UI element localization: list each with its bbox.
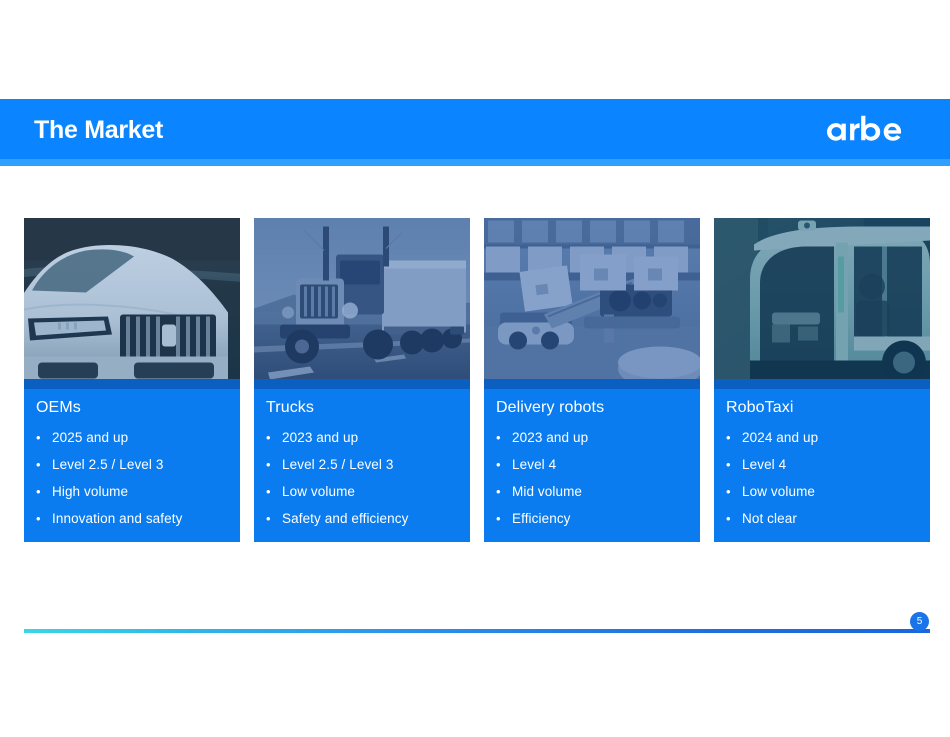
list-item: • 2023 and up <box>496 424 688 451</box>
card-bullet-list: • 2025 and up • Level 2.5 / Level 3 • Hi… <box>36 424 228 532</box>
card-title: RoboTaxi <box>726 397 918 419</box>
bullet-text: Efficiency <box>512 505 688 532</box>
footer-gradient-rule <box>24 629 930 633</box>
list-item: • Safety and efficiency <box>266 505 458 532</box>
autonomous-shuttle-pod-photo <box>714 218 930 379</box>
list-item: • Low volume <box>266 478 458 505</box>
bullet-text: Level 4 <box>742 451 918 478</box>
page-number-badge: 5 <box>910 612 929 631</box>
card-bullet-list: • 2024 and up • Level 4 • Low volume • N… <box>726 424 918 532</box>
bullet-marker-icon: • <box>266 451 282 478</box>
list-item: • 2024 and up <box>726 424 918 451</box>
list-item: • Level 4 <box>496 451 688 478</box>
list-item: • Innovation and safety <box>36 505 228 532</box>
card-accent-strip <box>714 379 930 389</box>
bullet-marker-icon: • <box>266 478 282 505</box>
card-body: OEMs • 2025 and up • Level 2.5 / Level 3… <box>24 389 240 542</box>
warehouse-delivery-robots-photo <box>484 218 700 379</box>
bullet-marker-icon: • <box>266 505 282 532</box>
card-bullet-list: • 2023 and up • Level 4 • Mid volume • E… <box>496 424 688 532</box>
bullet-text: Level 2.5 / Level 3 <box>52 451 228 478</box>
bullet-marker-icon: • <box>36 505 52 532</box>
list-item: • Level 4 <box>726 451 918 478</box>
bullet-text: 2025 and up <box>52 424 228 451</box>
bullet-text: Innovation and safety <box>52 505 228 532</box>
card-oems[interactable]: OEMs • 2025 and up • Level 2.5 / Level 3… <box>24 218 240 542</box>
card-accent-strip <box>24 379 240 389</box>
card-title: OEMs <box>36 397 228 419</box>
bullet-text: Level 2.5 / Level 3 <box>282 451 458 478</box>
list-item: • Low volume <box>726 478 918 505</box>
arbe-logo <box>827 113 923 147</box>
bullet-text: Low volume <box>282 478 458 505</box>
bullet-marker-icon: • <box>496 505 512 532</box>
list-item: • High volume <box>36 478 228 505</box>
list-item: • Level 2.5 / Level 3 <box>266 451 458 478</box>
header-underbar <box>0 159 950 166</box>
bullet-marker-icon: • <box>726 478 742 505</box>
bullet-marker-icon: • <box>496 478 512 505</box>
bullet-text: Safety and efficiency <box>282 505 458 532</box>
bullet-marker-icon: • <box>726 505 742 532</box>
page-title: The Market <box>34 115 163 145</box>
bullet-text: Low volume <box>742 478 918 505</box>
white-suv-front-photo <box>24 218 240 379</box>
card-bullet-list: • 2023 and up • Level 2.5 / Level 3 • Lo… <box>266 424 458 532</box>
bullet-marker-icon: • <box>36 451 52 478</box>
bullet-marker-icon: • <box>266 424 282 451</box>
card-body: Trucks • 2023 and up • Level 2.5 / Level… <box>254 389 470 542</box>
bullet-text: Not clear <box>742 505 918 532</box>
market-segment-cards: OEMs • 2025 and up • Level 2.5 / Level 3… <box>24 218 930 542</box>
bullet-marker-icon: • <box>496 451 512 478</box>
card-delivery-robots[interactable]: Delivery robots • 2023 and up • Level 4 … <box>484 218 700 542</box>
list-item: • 2025 and up <box>36 424 228 451</box>
bullet-text: 2023 and up <box>512 424 688 451</box>
list-item: • Level 2.5 / Level 3 <box>36 451 228 478</box>
list-item: • Efficiency <box>496 505 688 532</box>
card-body: RoboTaxi • 2024 and up • Level 4 • Low v… <box>714 389 930 542</box>
bullet-marker-icon: • <box>726 451 742 478</box>
card-title: Trucks <box>266 397 458 419</box>
bullet-text: 2023 and up <box>282 424 458 451</box>
bullet-text: Level 4 <box>512 451 688 478</box>
bullet-marker-icon: • <box>36 424 52 451</box>
bullet-marker-icon: • <box>36 478 52 505</box>
card-accent-strip <box>484 379 700 389</box>
list-item: • 2023 and up <box>266 424 458 451</box>
bullet-marker-icon: • <box>726 424 742 451</box>
list-item: • Mid volume <box>496 478 688 505</box>
card-robotaxi[interactable]: RoboTaxi • 2024 and up • Level 4 • Low v… <box>714 218 930 542</box>
bullet-text: Mid volume <box>512 478 688 505</box>
card-title: Delivery robots <box>496 397 688 419</box>
bullet-text: 2024 and up <box>742 424 918 451</box>
list-item: • Not clear <box>726 505 918 532</box>
card-body: Delivery robots • 2023 and up • Level 4 … <box>484 389 700 542</box>
card-trucks[interactable]: Trucks • 2023 and up • Level 2.5 / Level… <box>254 218 470 542</box>
card-accent-strip <box>254 379 470 389</box>
bullet-text: High volume <box>52 478 228 505</box>
bullet-marker-icon: • <box>496 424 512 451</box>
slide: The Market <box>0 0 950 737</box>
semi-truck-highway-photo <box>254 218 470 379</box>
